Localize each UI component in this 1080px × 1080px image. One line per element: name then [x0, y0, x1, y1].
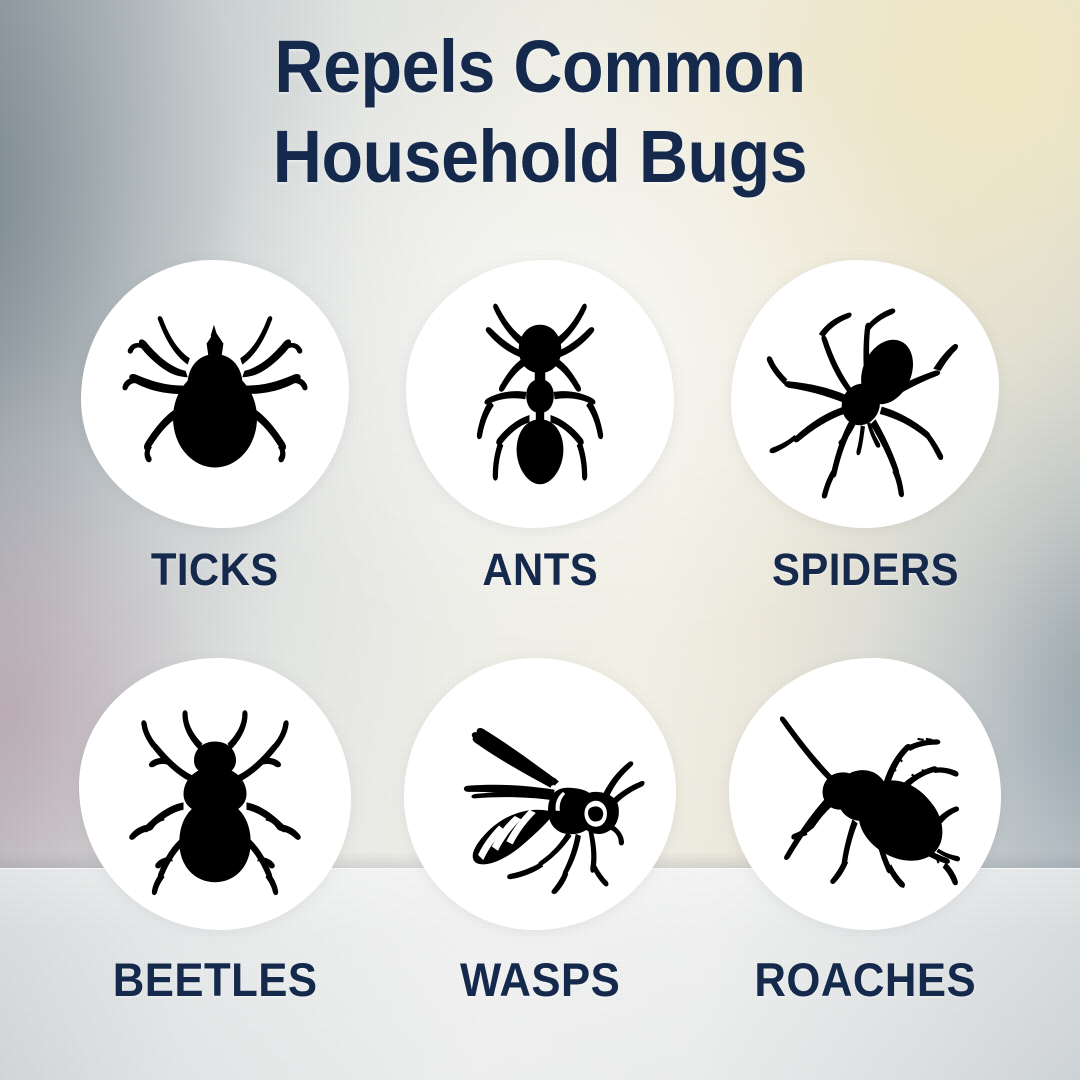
- roach-icon: [760, 689, 970, 899]
- bug-card-beetles[interactable]: BEETLES: [52, 658, 377, 1056]
- wasp-icon: [435, 689, 645, 899]
- bug-card-spiders[interactable]: SPIDERS: [703, 260, 1028, 658]
- ant-icon: [435, 289, 645, 499]
- bug-label-spiders: SPIDERS: [772, 544, 959, 596]
- bug-label-roaches: ROACHES: [754, 952, 976, 1007]
- bug-card-ants[interactable]: ANTS: [377, 260, 702, 658]
- bug-card-roaches[interactable]: ROACHES: [703, 658, 1028, 1056]
- bug-badge-roaches: [729, 658, 1001, 930]
- bug-label-ants: ANTS: [482, 544, 598, 596]
- tick-icon: [110, 289, 320, 499]
- bug-badge-spiders: [731, 260, 999, 528]
- bug-badge-wasps: [404, 658, 676, 930]
- bug-label-beetles: BEETLES: [112, 952, 317, 1007]
- bug-label-wasps: WASPS: [460, 952, 620, 1007]
- spider-icon: [760, 289, 970, 499]
- bug-grid: TICKS: [0, 260, 1080, 1056]
- bug-badge-ants: [406, 260, 674, 528]
- poster-canvas: Repels Common Household Bugs: [0, 0, 1080, 1080]
- bug-card-wasps[interactable]: WASPS: [377, 658, 702, 1056]
- bug-card-ticks[interactable]: TICKS: [52, 260, 377, 658]
- bug-badge-ticks: [81, 260, 349, 528]
- bug-label-ticks: TICKS: [151, 544, 279, 596]
- beetle-icon: [110, 689, 320, 899]
- page-title: Repels Common Household Bugs: [43, 22, 1037, 203]
- bug-badge-beetles: [79, 658, 351, 930]
